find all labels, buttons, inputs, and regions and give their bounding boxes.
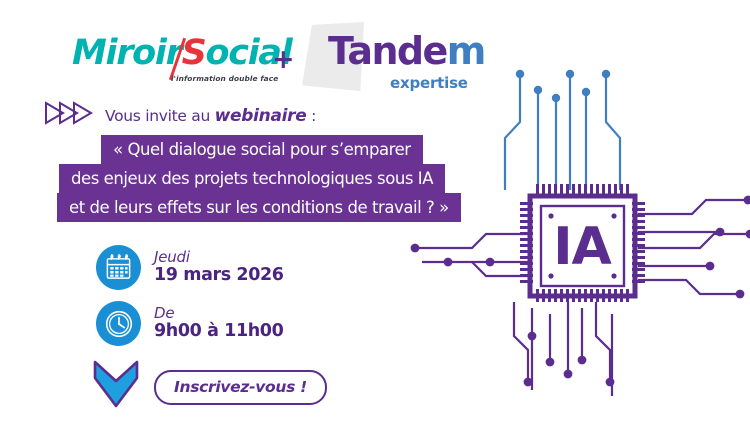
ai-chip-circuit-illustration: IA [410, 30, 750, 420]
event-date-value: 19 mars 2026 [154, 266, 284, 286]
register-button[interactable]: Inscrivez-vous ! [154, 370, 327, 405]
invite-suffix: : [306, 107, 316, 125]
webinar-banner: MiroirSocial l'information double face +… [0, 0, 750, 421]
quote-line-1: « Quel dialogue social pour s’emparer [101, 135, 423, 164]
clock-icon [96, 301, 141, 346]
miroir-social-tagline: l'information double face [171, 74, 278, 83]
event-date-text: Jeudi 19 mars 2026 [154, 249, 284, 285]
invite-line: Vous invite au webinaire : [44, 100, 316, 131]
event-time-value: 9h00 à 11h00 [154, 322, 283, 342]
event-details: Jeudi 19 mars 2026 De 9h00 à 11h00 [96, 245, 284, 357]
quote-line-2: des enjeux des projets technologiques so… [59, 164, 445, 193]
event-time-row: De 9h00 à 11h00 [96, 301, 284, 346]
event-day-label: Jeudi [154, 249, 284, 266]
invite-emphasis: webinaire [215, 106, 307, 126]
quote-line-3: et de leurs effets sur les conditions de… [57, 193, 461, 222]
event-date-row: Jeudi 19 mars 2026 [96, 245, 284, 290]
miroir-social-part1: Miroir [72, 33, 182, 73]
event-time-text: De 9h00 à 11h00 [154, 305, 283, 341]
event-time-label: De [154, 305, 283, 322]
invite-text: Vous invite au webinaire : [105, 106, 316, 126]
invite-prefix: Vous invite au [105, 107, 215, 125]
cta-row: Inscrivez-vous ! [90, 356, 327, 419]
chip-label: IA [553, 217, 611, 277]
triple-chevron-right-icon [44, 100, 94, 131]
plus-separator: + [272, 46, 295, 73]
miroir-social-logo[interactable]: MiroirSocial l'information double face [72, 36, 272, 92]
chevron-down-arrow-icon [90, 356, 142, 419]
calendar-icon [96, 245, 141, 290]
